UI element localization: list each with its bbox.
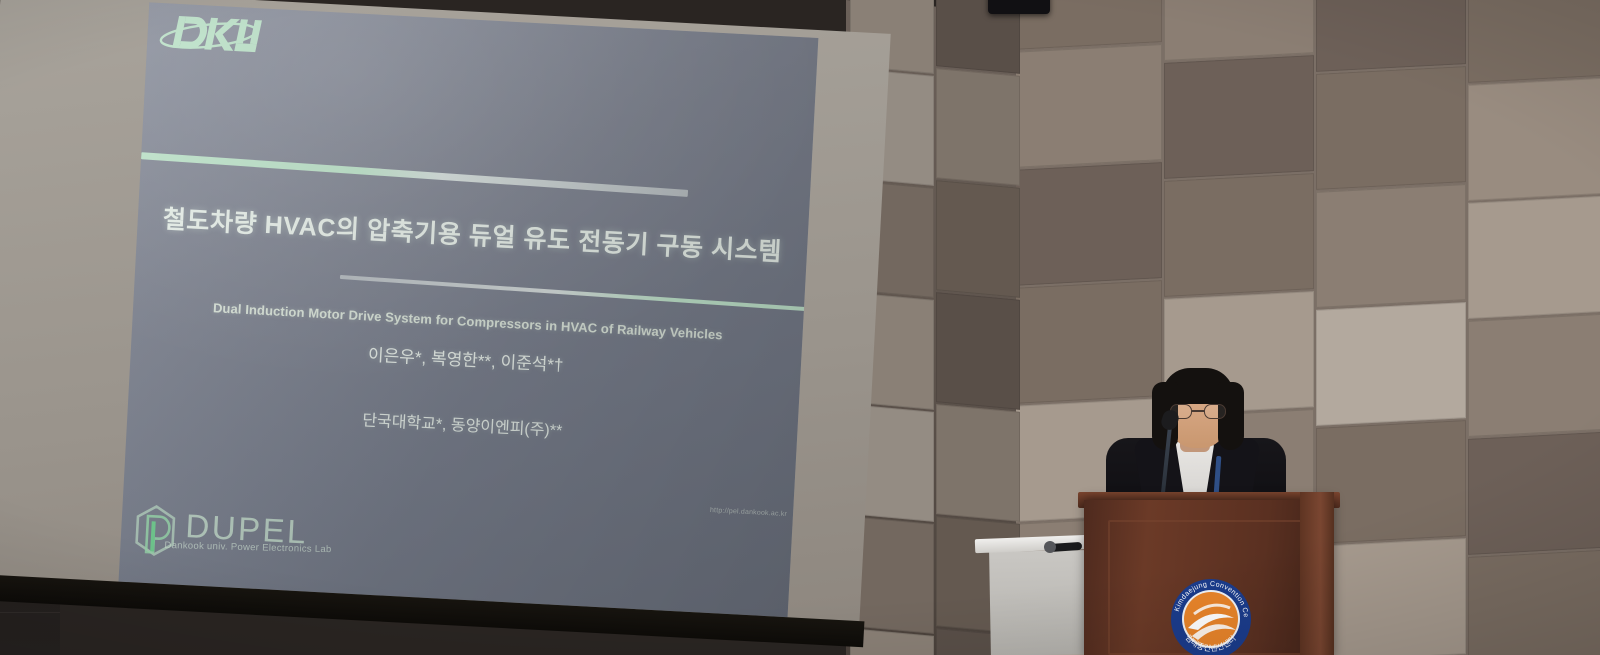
wall-tile: [1468, 77, 1600, 201]
wall-tile: [1012, 162, 1162, 286]
accent-rule-top: [141, 152, 688, 197]
wall-tile: [1468, 195, 1600, 319]
presentation-room-scene: 철도차량 HVAC의 압축기용 듀얼 유도 전동기 구동 시스템 Dual In…: [0, 0, 1600, 655]
wall-tile: [1468, 313, 1600, 437]
dupel-logo: DUPEL Dankook univ. Power Electronics La…: [128, 500, 381, 575]
accent-rule-bottom: [340, 275, 809, 311]
wall-tile: [1316, 184, 1466, 308]
wall-tile: [1468, 431, 1600, 555]
side-table-body: [989, 550, 1086, 655]
wall-tile: [1468, 549, 1600, 655]
dku-logo-icon: [152, 5, 265, 63]
projection-screen: 철도차량 HVAC의 압축기용 듀얼 유도 전동기 구동 시스템 Dual In…: [0, 0, 891, 633]
wall-tile: [936, 404, 1020, 522]
wall-tile: [1316, 302, 1466, 426]
podium-right-column: [1300, 492, 1334, 655]
venue-emblem: Kimdaejung Convention Center 김대중컨벤션센터: [1168, 576, 1254, 655]
wall-tile: [1468, 0, 1600, 83]
wall-tile: [936, 68, 1020, 186]
slide-affiliations: 단국대학교*, 동양이엔피(주)**: [127, 394, 797, 454]
projected-slide: 철도차량 HVAC의 압축기용 듀얼 유도 전동기 구동 시스템 Dual In…: [118, 2, 818, 617]
slide-title-korean: 철도차량 HVAC의 압축기용 듀얼 유도 전동기 구동 시스템: [137, 198, 808, 270]
wall-tile: [1164, 173, 1314, 297]
microphone-head-icon: [1044, 541, 1056, 553]
wall-tile: [1316, 538, 1466, 655]
wall-tile: [936, 292, 1020, 410]
wall-tile: [1316, 420, 1466, 544]
wall-tile: [1316, 66, 1466, 190]
wall-tile: [1164, 55, 1314, 179]
wall-tile: [1164, 0, 1314, 61]
slide-url: http://pel.dankook.ac.kr: [710, 507, 787, 518]
wall-tile: [936, 180, 1020, 298]
wall-tile: [1316, 0, 1466, 72]
ceiling-speaker: [988, 0, 1050, 14]
wall-tile: [1012, 44, 1162, 168]
